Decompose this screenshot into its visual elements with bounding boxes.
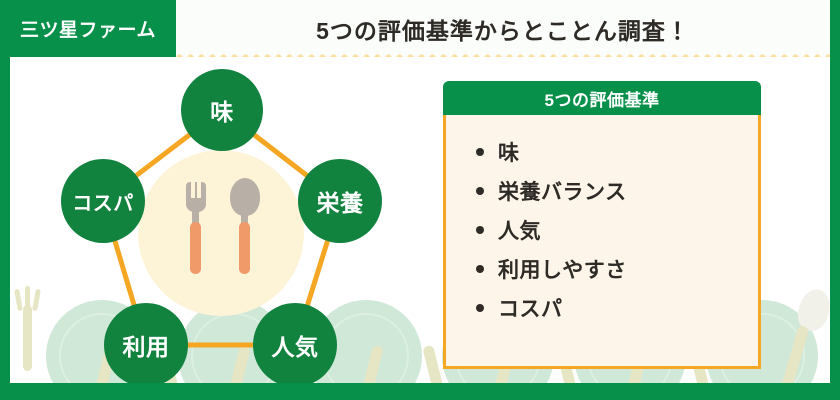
list-item: 栄養バランス — [476, 176, 758, 206]
criteria-label-usability: 利用しやすさ — [498, 254, 627, 284]
criteria-label-taste: 味 — [498, 137, 520, 167]
pentagon-node-popularity[interactable]: 人気 — [253, 303, 337, 383]
criteria-panel: 5つの評価基準 味 栄養バランス 人気 利用しやすさ — [443, 81, 761, 369]
list-item: コスパ — [476, 293, 758, 323]
pentagon-node-usability-label: 利用 — [123, 328, 170, 362]
page-title: 5つの評価基準からとことん調査！ — [316, 12, 690, 46]
list-item: 利用しやすさ — [476, 254, 758, 284]
pentagon-node-taste-label: 味 — [210, 93, 234, 127]
pentagon-node-popularity-label: 人気 — [272, 328, 319, 362]
bullet-icon — [476, 304, 484, 312]
pentagon-node-usability[interactable]: 利用 — [104, 303, 188, 383]
criteria-panel-title: 5つの評価基準 — [545, 86, 660, 111]
bullet-icon — [476, 265, 484, 273]
center-plate — [138, 150, 304, 316]
content-area: 味 栄養 人気 利用 コスパ 5つの評価基準 味 — [10, 57, 830, 383]
infographic-canvas: 三ツ星ファーム 5つの評価基準からとことん調査！ — [0, 0, 840, 400]
list-item: 味 — [476, 137, 758, 167]
brand-badge: 三ツ星ファーム — [0, 0, 176, 57]
list-item: 人気 — [476, 215, 758, 245]
criteria-label-cost: コスパ — [498, 293, 563, 323]
brand-name: 三ツ星ファーム — [20, 15, 156, 42]
header-title-container: 5つの評価基準からとことん調査！ — [176, 0, 830, 57]
header-bar: 三ツ星ファーム 5つの評価基準からとことん調査！ — [0, 0, 840, 57]
criteria-label-nutrition: 栄養バランス — [498, 176, 627, 206]
bullet-icon — [476, 187, 484, 195]
pentagon-node-cost[interactable]: コスパ — [61, 159, 145, 243]
pentagon-node-taste[interactable]: 味 — [181, 69, 263, 151]
pentagon-diagram: 味 栄養 人気 利用 コスパ — [10, 57, 450, 383]
bullet-icon — [476, 148, 484, 156]
criteria-panel-header: 5つの評価基準 — [443, 81, 761, 115]
criteria-panel-body: 味 栄養バランス 人気 利用しやすさ コスパ — [443, 115, 761, 369]
pentagon-node-nutrition[interactable]: 栄養 — [298, 159, 382, 243]
bullet-icon — [476, 226, 484, 234]
pentagon-node-nutrition-label: 栄養 — [317, 184, 364, 218]
criteria-label-popularity: 人気 — [498, 215, 541, 245]
pentagon-node-cost-label: コスパ — [72, 187, 134, 216]
